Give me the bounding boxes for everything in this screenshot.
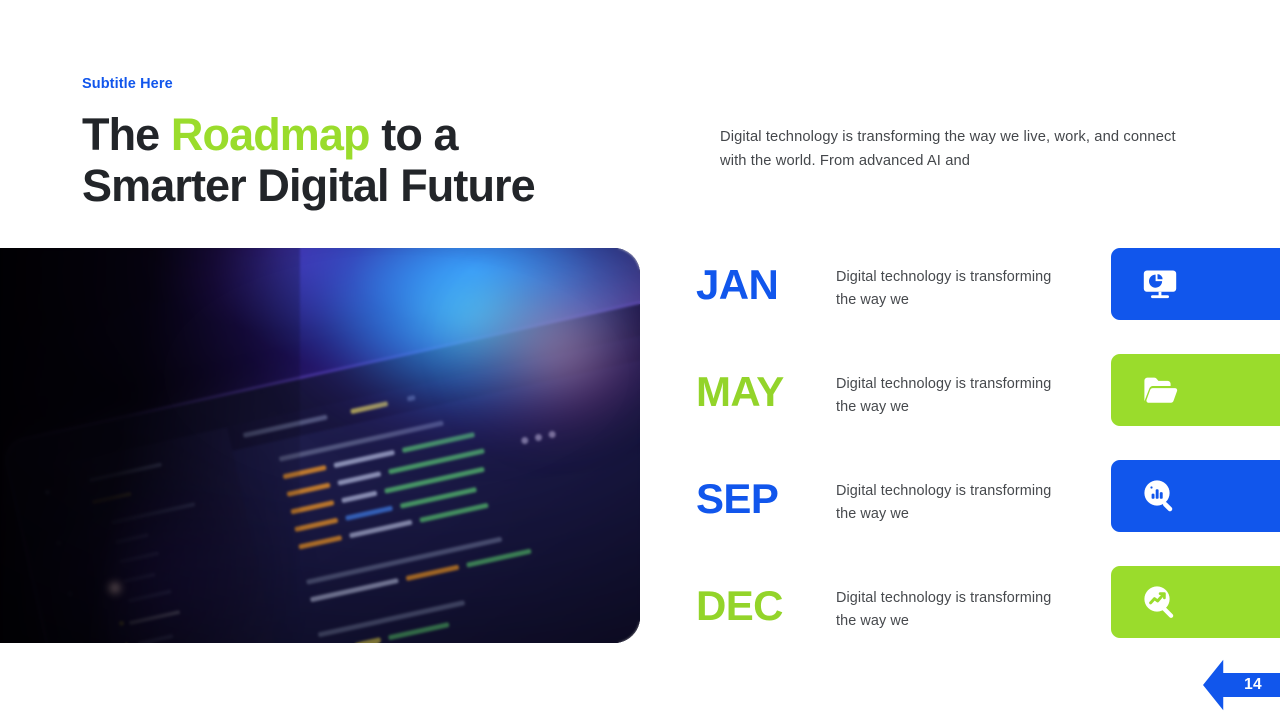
page-title-accent: Roadmap bbox=[171, 109, 370, 160]
icon-card[interactable] bbox=[1111, 566, 1280, 638]
icon-card-column bbox=[1111, 248, 1280, 638]
presentation-pie-chart-icon bbox=[1139, 263, 1181, 305]
page-title-line-1: The Roadmap to a bbox=[82, 110, 682, 160]
timeline-description: Digital technology is transforming the w… bbox=[836, 373, 1056, 420]
timeline-description: Digital technology is transforming the w… bbox=[836, 266, 1056, 313]
slide-canvas: Subtitle Here The Roadmap to a Smarter D… bbox=[0, 0, 1280, 720]
timeline-month-label: DEC bbox=[696, 585, 783, 627]
intro-paragraph: Digital technology is transforming the w… bbox=[720, 126, 1188, 174]
roadmap-timeline: JAN Digital technology is transforming t… bbox=[696, 248, 1116, 676]
timeline-row: DEC Digital technology is transforming t… bbox=[696, 569, 1116, 676]
timeline-month-label: JAN bbox=[696, 264, 778, 306]
page-number-badge: 14 bbox=[1203, 655, 1280, 715]
slide-subtitle: Subtitle Here bbox=[82, 76, 682, 93]
timeline-row: MAY Digital technology is transforming t… bbox=[696, 355, 1116, 462]
laptop-code-photo bbox=[0, 248, 640, 643]
timeline-month-label: SEP bbox=[696, 478, 778, 520]
icon-card[interactable] bbox=[1111, 460, 1280, 532]
page-number: 14 bbox=[1233, 670, 1273, 700]
timeline-description: Digital technology is transforming the w… bbox=[836, 587, 1056, 634]
trending-line-search-icon bbox=[1139, 581, 1181, 623]
icon-card[interactable] bbox=[1111, 354, 1280, 426]
page-title: The Roadmap to a Smarter Digital Future bbox=[82, 110, 682, 211]
open-folder-icon bbox=[1139, 369, 1181, 411]
bar-chart-search-icon bbox=[1139, 475, 1181, 517]
timeline-description: Digital technology is transforming the w… bbox=[836, 480, 1056, 527]
page-title-text-2: to a bbox=[370, 109, 458, 160]
icon-card[interactable] bbox=[1111, 248, 1280, 320]
timeline-row: JAN Digital technology is transforming t… bbox=[696, 248, 1116, 355]
page-title-text-1: The bbox=[82, 109, 171, 160]
timeline-month-label: MAY bbox=[696, 371, 784, 413]
page-title-line-2: Smarter Digital Future bbox=[82, 161, 682, 211]
timeline-row: SEP Digital technology is transforming t… bbox=[696, 462, 1116, 569]
photo-vignette bbox=[0, 248, 640, 643]
heading-block: Subtitle Here The Roadmap to a Smarter D… bbox=[82, 76, 682, 211]
